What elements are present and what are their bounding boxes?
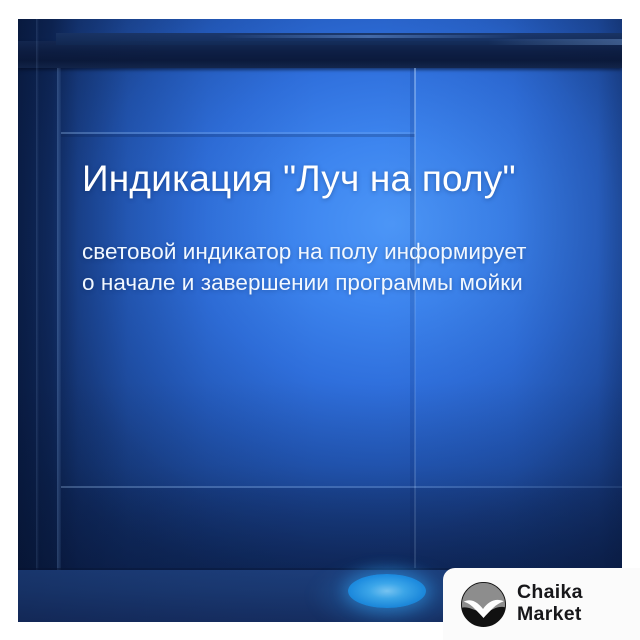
chaika-seagull-circle-icon <box>461 582 506 627</box>
countertop-highlight-right <box>488 39 622 45</box>
floor-beam-light-spot <box>348 574 426 608</box>
cabinet-plinth-seam <box>61 486 622 488</box>
countertop-slab <box>18 41 622 68</box>
overlay-subline-line-2: о начале и завершении программы мойки <box>82 267 602 298</box>
overlay-headline: Индикация "Луч на полу" <box>82 159 602 199</box>
cabinet-plinth-face <box>61 488 622 568</box>
overlay-text-block: Индикация "Луч на полу" световой индикат… <box>82 159 602 298</box>
overlay-subline: световой индикатор на полу информирует о… <box>82 199 602 298</box>
product-photo: Индикация "Луч на полу" световой индикат… <box>18 19 622 622</box>
brand-logo-line-1: Chaika <box>517 582 583 604</box>
cabinet-outer-edge <box>36 19 39 622</box>
countertop-highlight <box>218 35 518 38</box>
brand-logo-badge: Chaika Market <box>443 568 640 640</box>
brand-logo-line-2: Market <box>517 604 583 626</box>
brand-logo-wordmark: Chaika Market <box>506 582 583 626</box>
panel-seam-horizontal-shadow <box>61 134 415 137</box>
image-canvas: Индикация "Луч на полу" световой индикат… <box>0 0 640 640</box>
overlay-subline-line-1: световой индикатор на полу информирует <box>82 236 602 267</box>
